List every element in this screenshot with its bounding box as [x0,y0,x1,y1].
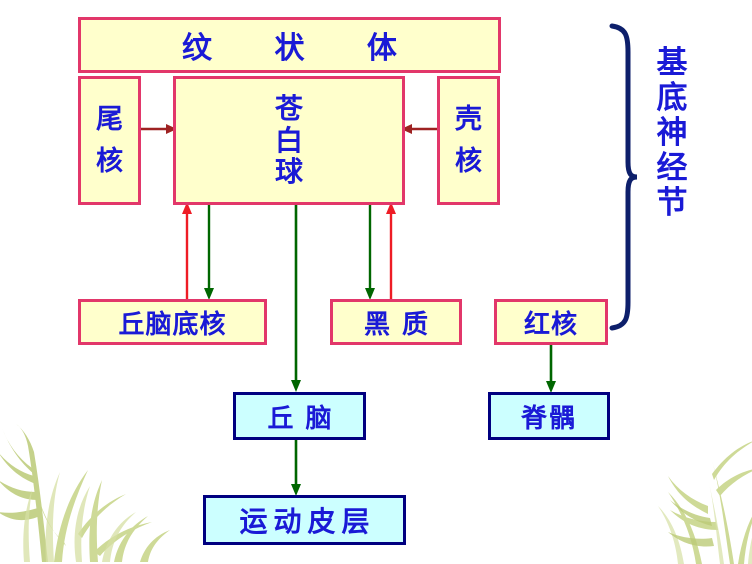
box-spinal-cord-label: 脊髃 [521,398,577,435]
arrow-subthalamic-to-pallidum [178,200,196,302]
box-putamen[interactable]: 壳 核 [437,76,500,205]
label-basal-ganglia-char-1: 基 [645,46,699,81]
label-basal-ganglia: 基 底 神 经 节 [645,46,699,221]
box-substantia-nigra-label: 黑质 [352,304,440,341]
box-globus-pallidus-label-char-1: 苍 [275,93,303,124]
box-caudate-nucleus-label-char-2: 核 [96,141,123,183]
arrow-pallidum-to-thalamus [287,202,305,394]
arrow-substantia-to-pallidum [382,200,400,302]
box-subthalamic-nucleus[interactable]: 丘脑底核 [78,299,267,345]
diagram-canvas: 纹 状 体 尾 核 苍 白 球 壳 核 丘脑底核 黑质 红核 丘脑 脊髃 运动皮… [0,0,752,558]
box-putamen-label-char-1: 壳 [455,99,482,141]
box-red-nucleus[interactable]: 红核 [494,299,608,345]
arrow-putamen-to-pallidum [399,120,439,138]
box-thalamus[interactable]: 丘脑 [233,392,366,440]
grass-decoration-right-icon [612,414,752,564]
box-motor-cortex-label: 运动皮层 [233,500,375,540]
arrow-pallidum-to-subthalamic [200,202,218,302]
box-caudate-nucleus[interactable]: 尾 核 [78,76,141,205]
grass-decoration-left-icon [0,402,184,562]
box-striatum[interactable]: 纹 状 体 [78,17,501,73]
arrow-rednucleus-to-spinalcord [542,345,560,395]
label-basal-ganglia-char-4: 经 [645,151,699,186]
box-thalamus-label: 丘脑 [255,398,343,435]
label-basal-ganglia-char-3: 神 [645,116,699,151]
box-red-nucleus-label: 红核 [524,304,578,341]
box-motor-cortex[interactable]: 运动皮层 [203,495,406,545]
box-globus-pallidus-label-char-2: 白 [275,125,303,156]
label-basal-ganglia-char-2: 底 [645,81,699,116]
box-striatum-label: 纹 状 体 [156,23,423,67]
box-globus-pallidus[interactable]: 苍 白 球 [173,76,405,205]
box-spinal-cord[interactable]: 脊髃 [488,392,610,440]
box-subthalamic-nucleus-label: 丘脑底核 [118,304,226,341]
curly-brace-icon [604,22,638,332]
box-putamen-label-char-2: 核 [455,141,482,183]
box-globus-pallidus-label-char-3: 球 [275,156,303,187]
box-substantia-nigra[interactable]: 黑质 [330,299,462,345]
arrow-thalamus-to-motorcortex [287,440,305,498]
label-basal-ganglia-char-5: 节 [645,186,699,221]
box-caudate-nucleus-label-char-1: 尾 [96,99,123,141]
arrow-pallidum-to-substantia [361,202,379,302]
